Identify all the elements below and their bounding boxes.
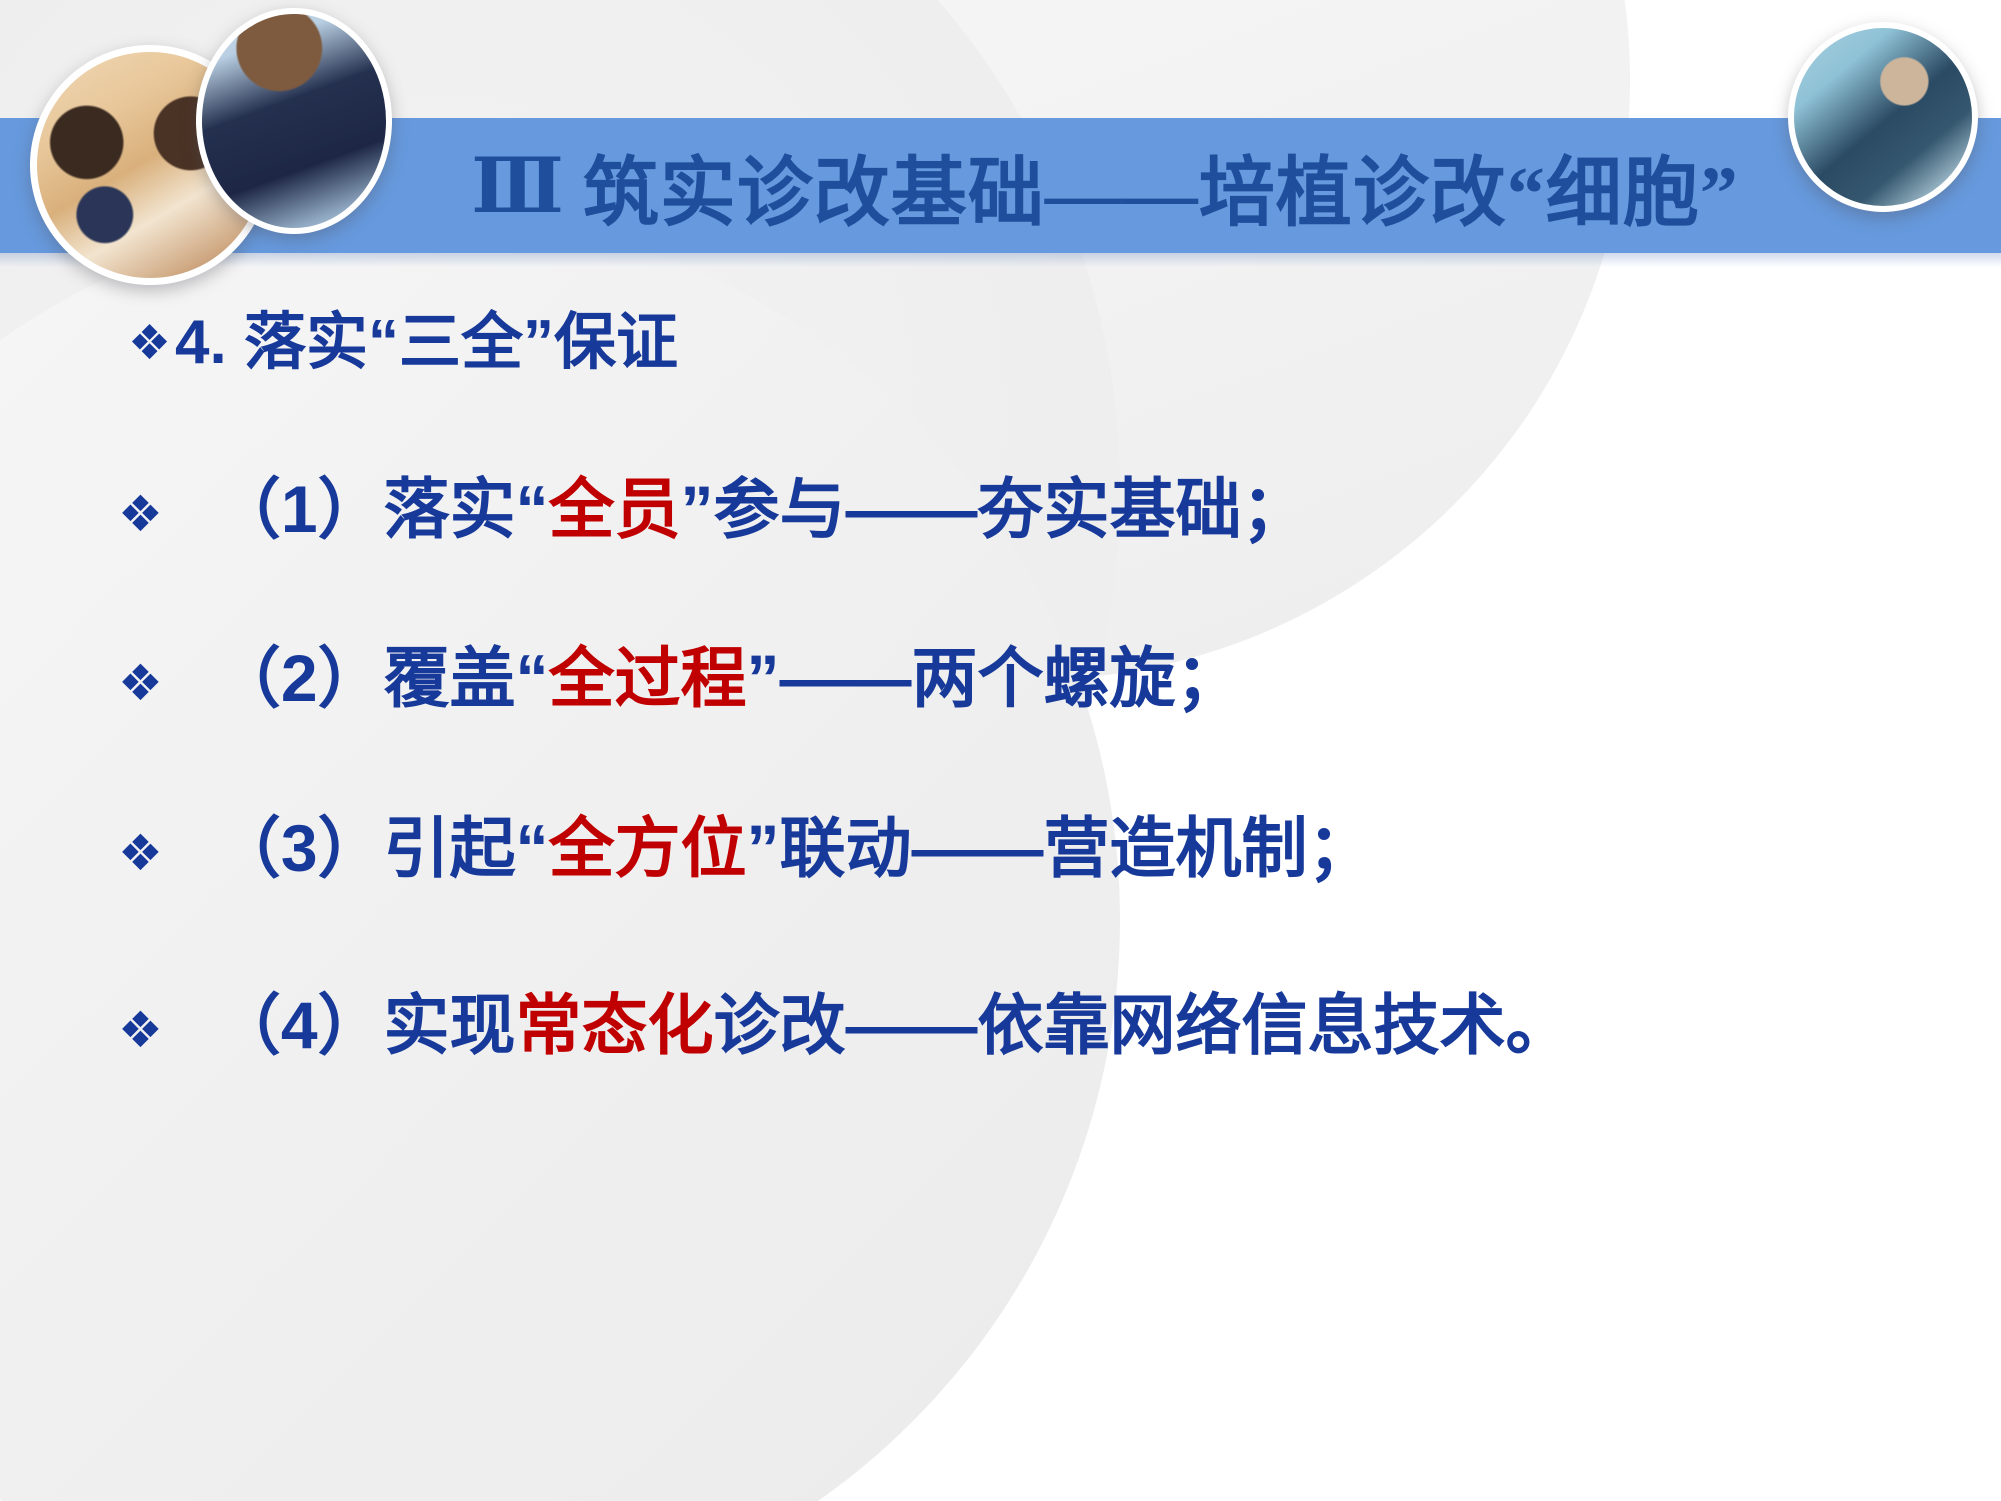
presentation-slide: Ⅲ 筑实诊改基础——培植诊改“细胞” ❖ 4. 落实“三全”保证 ❖ （1）落实… [0,0,2001,1501]
photo-businessman-handshake-image [202,14,386,228]
bullet-segment: ”——两个螺旋； [747,641,1242,715]
slide-title: Ⅲ 筑实诊改基础——培植诊改“细胞” [440,126,1770,246]
bullet-item-3: ❖ （3）引起“全方位”联动——营造机制； [118,814,2001,883]
bullet-item-1: ❖ （1）落实“全员”参与——夯实基础； [118,475,2001,544]
bullet-segment: 诊改——依靠网络信息技术。 [714,988,1572,1062]
bullet-segment: 4. 落实“三全”保证 [175,308,678,377]
bullet-segment: ”参与——夯实基础； [681,472,1308,546]
photo-businessman-presenting-image [1794,28,1972,206]
bullet-segment-highlight: 常态化 [516,988,714,1062]
bullet-item-2-text: （2）覆盖“全过程”——两个螺旋； [215,644,1242,713]
photo-businessman-handshake [196,8,392,234]
bullet-segment-highlight: 全过程 [549,641,747,715]
bullet-heading-text: 4. 落实“三全”保证 [175,310,678,375]
diamond-bullet-icon: ❖ [118,1005,163,1055]
bullet-item-2: ❖ （2）覆盖“全过程”——两个螺旋； [118,644,2001,713]
bullet-item-1-text: （1）落实“全员”参与——夯实基础； [215,475,1308,544]
bullet-item-heading: ❖ 4. 落实“三全”保证 [128,310,2001,375]
diamond-bullet-icon: ❖ [118,828,163,878]
bullet-segment: （1）落实“ [215,472,549,546]
bullet-segment-highlight: 全方位 [549,811,747,885]
bullet-item-3-text: （3）引起“全方位”联动——营造机制； [215,814,1374,883]
bullet-segment: （4）实现 [215,988,516,1062]
slide-title-text: 筑实诊改基础——培植诊改“细胞” [583,131,1739,241]
slide-title-numeral: Ⅲ [471,141,565,231]
bullet-item-4-text: （4）实现常态化诊改——依靠网络信息技术。 [215,991,1572,1060]
bullet-segment: （2）覆盖“ [215,641,549,715]
photo-businessman-presenting [1788,22,1978,212]
bullet-item-4: ❖ （4）实现常态化诊改——依靠网络信息技术。 [118,991,2001,1060]
header-band-shadow [0,253,2001,267]
bullet-segment: ”联动——营造机制； [747,811,1374,885]
bullet-segment-highlight: 全员 [549,472,681,546]
slide-body: ❖ 4. 落实“三全”保证 ❖ （1）落实“全员”参与——夯实基础； ❖ （2）… [0,280,2001,1060]
diamond-bullet-icon: ❖ [118,489,163,539]
diamond-bullet-icon: ❖ [118,658,163,708]
diamond-bullet-icon: ❖ [128,320,171,368]
bullet-segment: （3）引起“ [215,811,549,885]
